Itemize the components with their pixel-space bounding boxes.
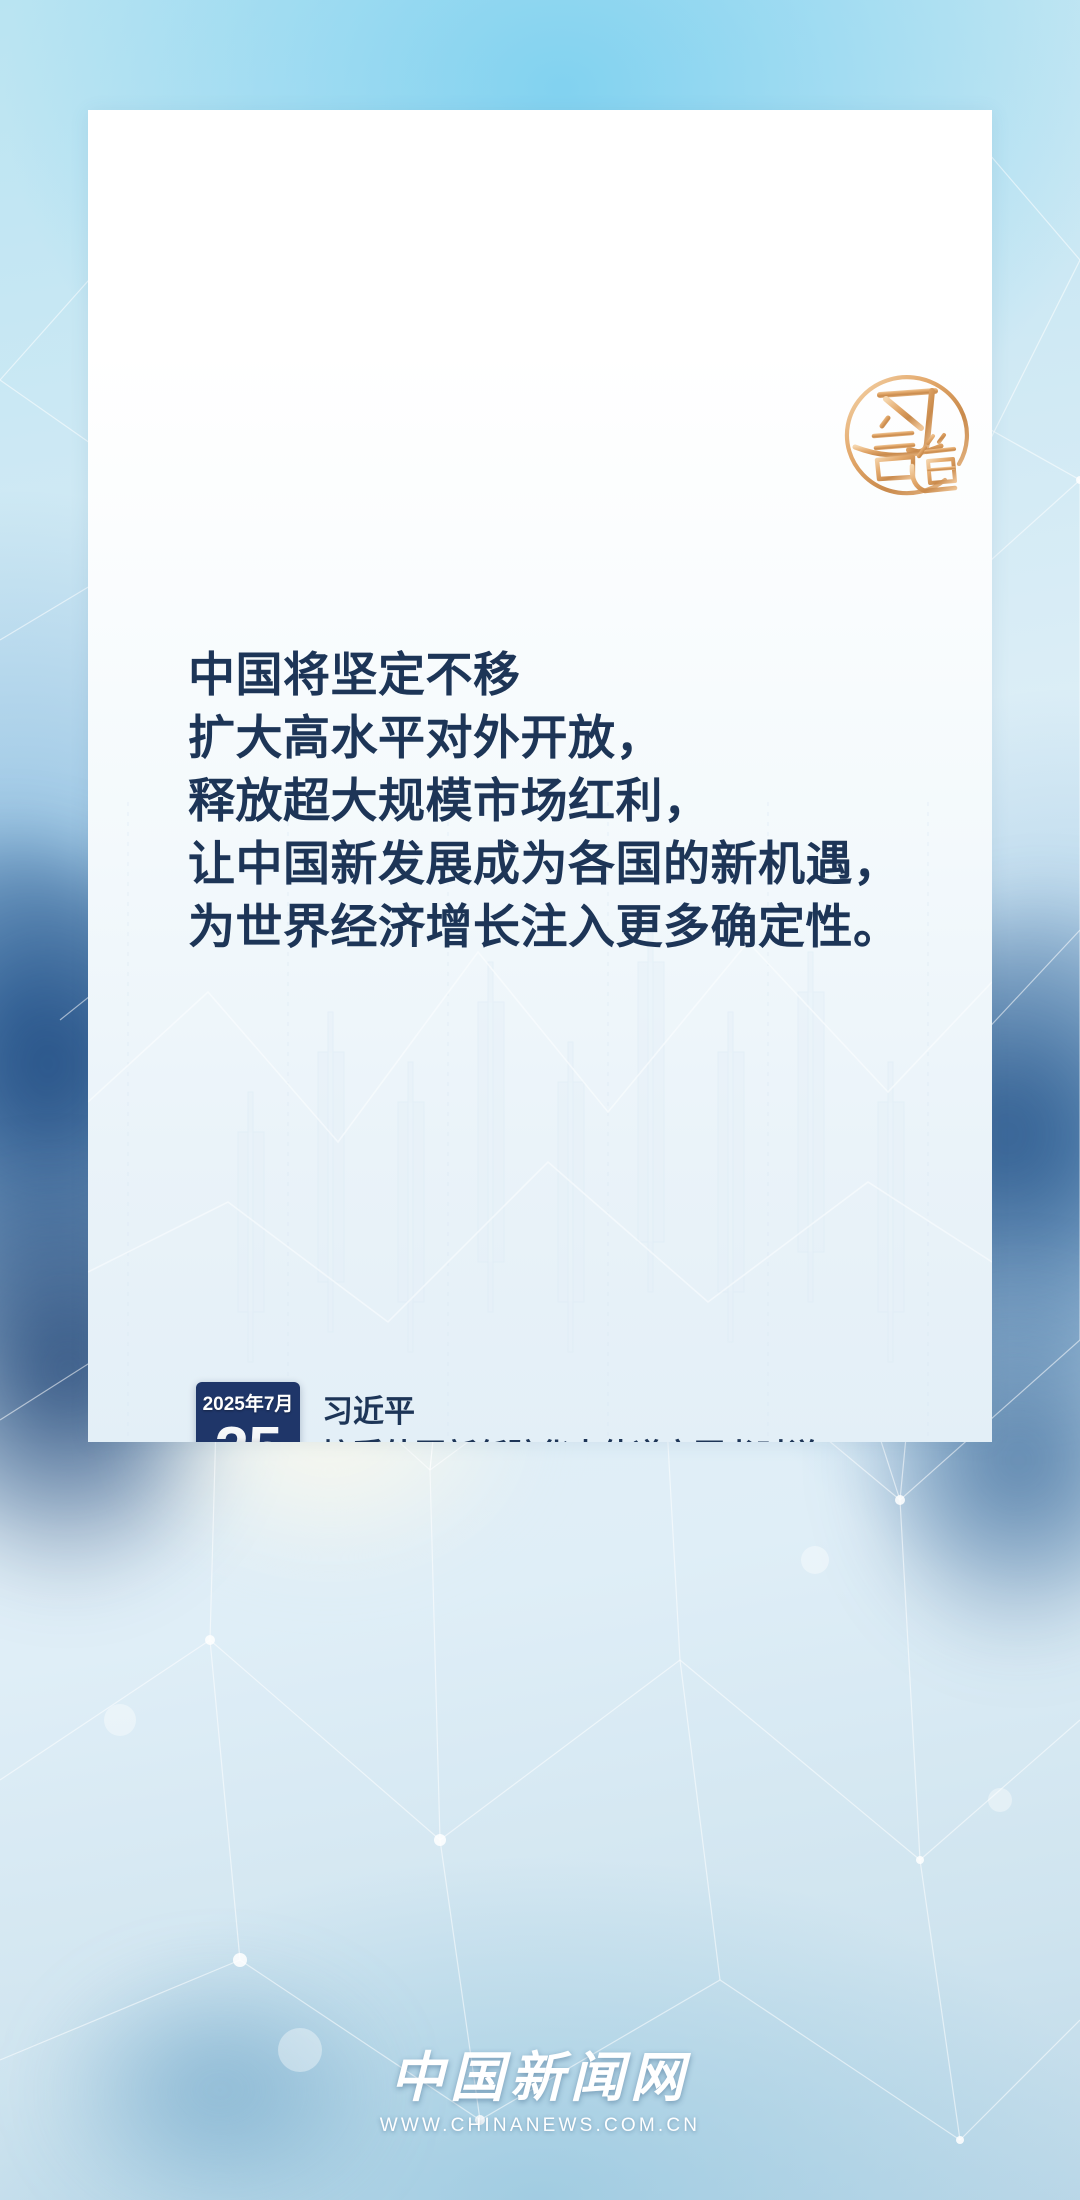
xi-yan-dao-seal [833,360,985,508]
attribution-block: 习近平 接受外国新任驻华大使递交国书时说 [322,1382,818,1442]
quote-line-2: 扩大高水平对外开放， [188,706,848,769]
quote-line-3: 释放超大规模市场红利， [188,769,848,832]
date-day: 25 [215,1418,282,1442]
site-footer: 中国新闻网 WWW.CHINANEWS.COM.CN [0,2048,1080,2137]
quote-line-5: 为世界经济增长注入更多确定性。 [188,895,848,958]
quote-line-1: 中国将坚定不移 [188,643,848,706]
quote-line-4: 让中国新发展成为各国的新机遇， [188,832,848,895]
quote-block: 中国将坚定不移 扩大高水平对外开放， 释放超大规模市场红利， 让中国新发展成为各… [188,643,848,958]
poster-root: 中国将坚定不移 扩大高水平对外开放， 释放超大规模市场红利， 让中国新发展成为各… [0,0,1080,2200]
chinanews-url: WWW.CHINANEWS.COM.CN [380,2115,700,2137]
attribution-speaker: 习近平 [322,1390,818,1434]
attribution-occasion: 接受外国新任驻华大使递交国书时说 [322,1434,818,1442]
chinanews-logo-text: 中国新闻网 [390,2048,690,2108]
date-year-month: 2025年7月 [203,1394,294,1416]
date-badge: 2025年7月 25 [196,1382,300,1442]
quote-card: 中国将坚定不移 扩大高水平对外开放， 释放超大规模市场红利， 让中国新发展成为各… [88,110,992,1442]
date-attribution-row: 2025年7月 25 习近平 接受外国新任驻华大使递交国书时说 [196,1382,818,1442]
